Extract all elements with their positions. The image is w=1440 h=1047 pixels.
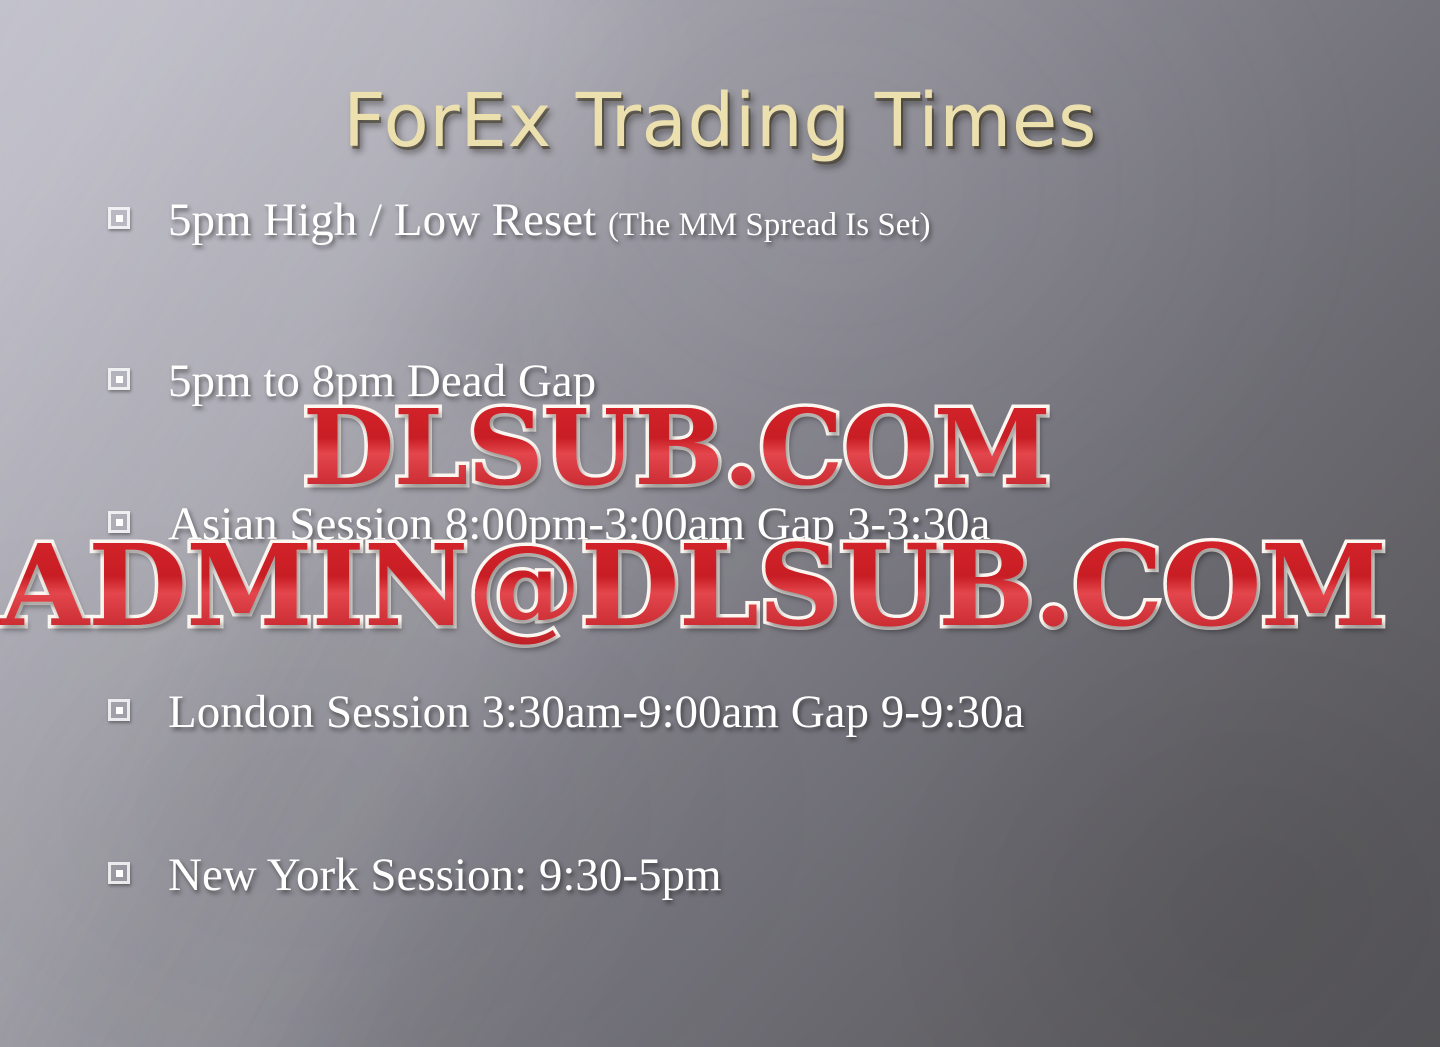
list-item-parenthetical-text: (The MM Spread Is Set) — [608, 207, 931, 243]
square-bullet-icon — [108, 368, 130, 390]
list-item-main-text: New York Session: 9:30-5pm — [168, 849, 722, 901]
list-item-main-text: 5pm High / Low Reset — [168, 194, 608, 246]
square-bullet-icon — [108, 699, 130, 721]
slide-canvas: ForEx Trading Times 5pm High / Low Reset… — [0, 0, 1440, 1047]
watermark-site-url-fill: DLSUB.COM — [303, 386, 1050, 509]
list-item-main-text: London Session 3:30am-9:00am Gap 9-9:30a — [168, 686, 1024, 738]
list-item-text: New York Session: 9:30-5pm — [168, 851, 722, 900]
watermark-contact-email-fill: ADMIN@DLSUB.COM — [0, 521, 1386, 652]
list-item: London Session 3:30am-9:00am Gap 9-9:30a — [108, 688, 1024, 737]
square-bullet-icon — [108, 207, 130, 229]
square-bullet-icon — [108, 862, 130, 884]
list-item-text: London Session 3:30am-9:00am Gap 9-9:30a — [168, 688, 1024, 737]
list-item: New York Session: 9:30-5pm — [108, 851, 722, 900]
list-item: 5pm High / Low Reset (The MM Spread Is S… — [108, 196, 931, 245]
list-item-text: 5pm High / Low Reset (The MM Spread Is S… — [168, 196, 931, 245]
